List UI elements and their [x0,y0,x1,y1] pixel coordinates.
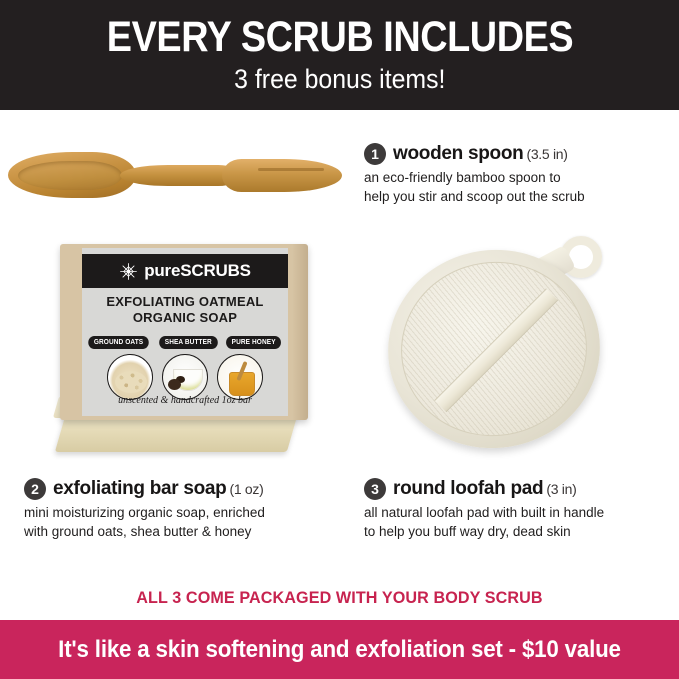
loofah-pad-face [390,250,598,448]
soap-headline-line-2: ORGANIC SOAP [82,310,288,326]
item-1-heading: 1 wooden spoon(3.5 in) [364,143,674,165]
loofah-pad-image [370,232,670,464]
brand-name: pureSCRUBS [144,261,251,281]
item-3-heading: 3 round loofah pad(3 in) [364,478,674,500]
ingredient-pill-row: GROUND OATS SHEA BUTTER PURE HONEY [82,336,288,349]
spoon-graphic [8,148,342,204]
number-badge-1: 1 [364,143,386,165]
spoon-bowl-inner [18,161,122,190]
item-1-desc-line-1: an eco-friendly bamboo spoon to [364,168,674,187]
item-3-desc-line-1: all natural loofah pad with built in han… [364,503,674,522]
number-badge-2: 2 [24,478,46,500]
oats-photo-icon [107,354,153,400]
infographic-page: EVERY SCRUB INCLUDES 3 free bonus items!… [0,0,679,679]
number-badge-3: 3 [364,478,386,500]
item-2-title: exfoliating bar soap(1 oz) [53,478,263,500]
item-1-title-text: wooden spoon [393,143,523,164]
item-1-qty: (3.5 in) [526,146,567,162]
footer-value-bar: It's like a skin softening and exfoliati… [0,620,679,679]
ingredient-photo-row [82,354,288,400]
footer-note: ALL 3 COME PACKAGED WITH YOUR BODY SCRUB [17,588,662,608]
spoon-grain-line [258,168,324,171]
item-2-desc-line-2: with ground oats, shea butter & honey [24,522,344,541]
ingredient-pill-shea: SHEA BUTTER [159,336,217,349]
footer-value-text: It's like a skin softening and exfoliati… [58,636,621,664]
item-1-desc-line-2: help you stir and scoop out the scrub [364,187,674,206]
item-1-text-block: 1 wooden spoon(3.5 in) an eco-friendly b… [364,143,674,206]
soap-headline: EXFOLIATING OATMEAL ORGANIC SOAP [82,294,288,327]
soap-label-panel: pureSCRUBS EXFOLIATING OATMEAL ORGANIC S… [82,248,288,416]
brand-bar: pureSCRUBS [82,254,288,288]
page-title: EVERY SCRUB INCLUDES [106,16,572,59]
spoon-handle [222,159,342,192]
honey-jar-photo-icon [217,354,263,400]
spoon-bowl [8,152,136,198]
item-2-heading: 2 exfoliating bar soap(1 oz) [24,478,344,500]
item-2-title-text: exfoliating bar soap [53,478,226,499]
snowflake-logo-icon [119,262,138,281]
page-subtitle: 3 free bonus items! [234,65,445,95]
ingredient-pill-honey: PURE HONEY [226,336,281,349]
item-3-qty: (3 in) [546,481,576,497]
header-banner: EVERY SCRUB INCLUDES 3 free bonus items! [0,0,679,110]
item-2-qty: (1 oz) [229,481,263,497]
item-2-text-block: 2 exfoliating bar soap(1 oz) mini moistu… [24,478,344,541]
item-3-title: round loofah pad(3 in) [393,478,576,500]
soap-tagline: unscented & handcrafted 1oz bar [82,395,288,406]
item-3-title-text: round loofah pad [393,478,543,499]
bar-soap-image: pureSCRUBS EXFOLIATING OATMEAL ORGANIC S… [20,236,340,462]
shea-butter-photo-icon [162,354,208,400]
soap-headline-line-1: EXFOLIATING OATMEAL [82,294,288,310]
soap-kraft-box: pureSCRUBS EXFOLIATING OATMEAL ORGANIC S… [60,244,308,420]
item-2-desc-line-1: mini moisturizing organic soap, enriched [24,503,344,522]
soap-box-shadow [292,244,308,420]
ingredient-pill-oats: GROUND OATS [89,336,150,349]
wooden-spoon-image [0,128,350,224]
item-3-text-block: 3 round loofah pad(3 in) all natural loo… [364,478,674,541]
item-3-desc-line-2: to help you buff way dry, dead skin [364,522,674,541]
item-1-title: wooden spoon(3.5 in) [393,143,568,165]
